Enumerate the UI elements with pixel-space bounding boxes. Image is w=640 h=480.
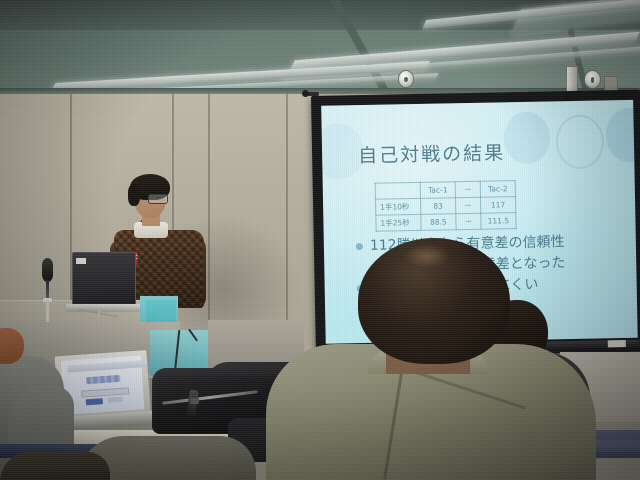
table-cell: － bbox=[455, 197, 480, 213]
slide-title: 自己対戦の結果 bbox=[358, 138, 506, 168]
wall-mount-bracket bbox=[566, 66, 578, 92]
microphone-icon bbox=[42, 258, 53, 282]
audience-person-foreground bbox=[282, 238, 582, 480]
table-header-cell: Tac-2 bbox=[480, 181, 515, 198]
table-header-cell: － bbox=[455, 181, 480, 197]
screen-rail-endcap bbox=[608, 340, 626, 347]
table-header-cell bbox=[375, 182, 420, 199]
table-header-cell: Tac-1 bbox=[420, 182, 455, 199]
laptop-label-sticker bbox=[76, 258, 86, 264]
search-logo-icon bbox=[86, 375, 120, 384]
bag-buckle-icon bbox=[190, 398, 199, 404]
table-cell: 111.5 bbox=[481, 213, 516, 230]
results-table: Tac-1 － Tac-2 1手10秒 83 － 117 1手25秒 88.5 bbox=[375, 180, 517, 232]
ceiling bbox=[0, 0, 640, 96]
microphone-stand bbox=[46, 300, 49, 322]
ceiling-sensor-icon bbox=[398, 70, 414, 88]
table-cell: 117 bbox=[480, 197, 515, 214]
table-cell: 88.5 bbox=[421, 214, 456, 231]
table-row: 1手25秒 88.5 － 111.5 bbox=[376, 213, 516, 232]
presenter-hair bbox=[128, 184, 140, 206]
hair-highlight bbox=[404, 244, 450, 268]
table-cell: 1手25秒 bbox=[376, 214, 421, 231]
search-button bbox=[86, 398, 103, 405]
chair-back bbox=[0, 452, 110, 480]
glasses-icon bbox=[148, 194, 168, 204]
ceiling-sensor-icon bbox=[584, 70, 601, 89]
photo-scene: 自己対戦の結果 Tac-1 － Tac-2 1手10秒 83 － 11 bbox=[0, 0, 640, 480]
table-cell: － bbox=[456, 213, 481, 229]
table-cell: 1手10秒 bbox=[375, 198, 420, 215]
secondary-button bbox=[108, 397, 123, 403]
table-cell: 83 bbox=[420, 198, 455, 215]
presenter-laptop-base bbox=[66, 304, 140, 312]
